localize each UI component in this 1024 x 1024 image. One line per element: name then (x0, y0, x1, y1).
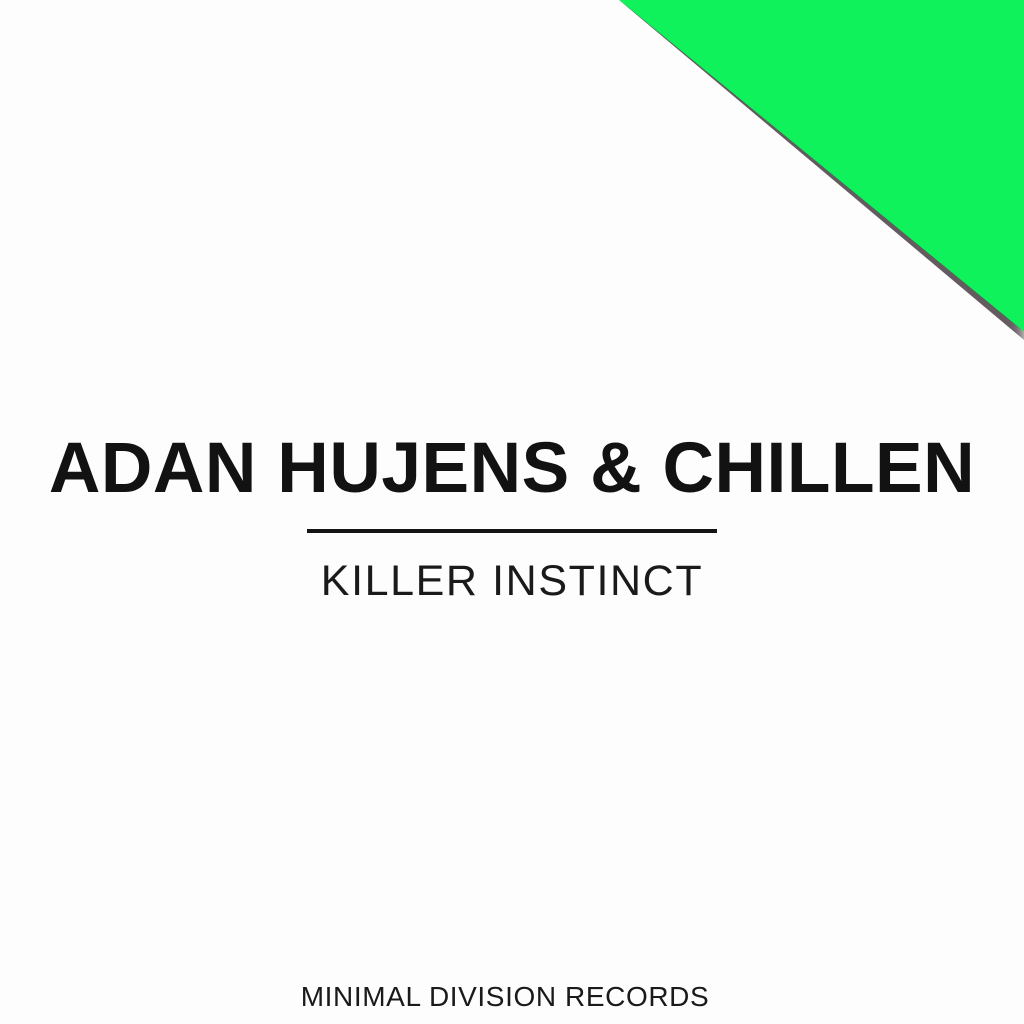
divider-rule (307, 529, 717, 533)
record-label-name: MINIMAL DIVISION RECORDS (0, 980, 1024, 1014)
track-title: KILLER INSTINCT (0, 556, 1024, 606)
album-cover-artwork: ADAN HUJENS & CHILLEN KILLER INSTINCT MI… (0, 0, 1024, 1024)
cover-text-block: ADAN HUJENS & CHILLEN KILLER INSTINCT (0, 430, 1024, 606)
artist-name: ADAN HUJENS & CHILLEN (0, 430, 1024, 508)
